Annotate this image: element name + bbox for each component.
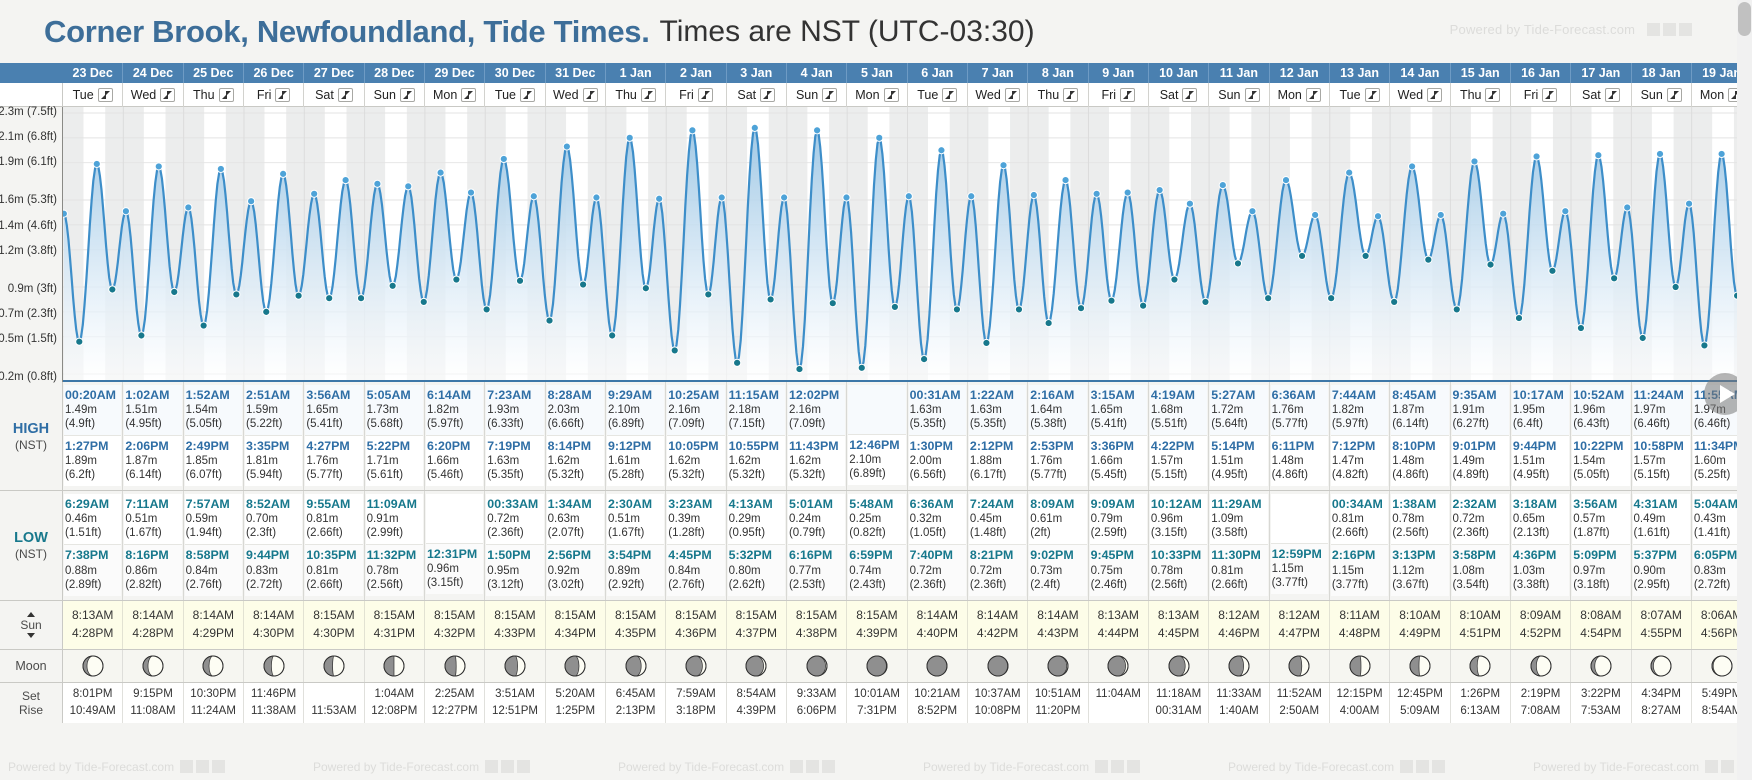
sunrise-time: 8:13AM bbox=[1089, 606, 1148, 625]
sunset-time: 4:30PM bbox=[304, 624, 363, 643]
tide-height-ft: (7.15ft) bbox=[729, 417, 784, 431]
low-tide-point bbox=[671, 347, 678, 354]
tide-time: 2:51AM bbox=[246, 388, 301, 403]
tide-height-m: 0.29m bbox=[729, 512, 784, 526]
low-tide-point bbox=[389, 282, 396, 289]
tide-cell: 2:51AM1.59m(5.22ft)3:35PM1.81m(5.94ft) bbox=[244, 382, 304, 490]
moon-set-rise-cell: 11:52AM2:50AM bbox=[1270, 683, 1330, 724]
moon-phase-cell bbox=[787, 650, 847, 682]
moon-set-rise-cell: 1:04AM12:08PM bbox=[365, 683, 425, 724]
tide-height-ft: (1.05ft) bbox=[910, 526, 965, 540]
tide-height-ft: (1.28ft) bbox=[668, 526, 723, 540]
tide-entry: 3:56AM0.57m(1.87ft) bbox=[1572, 494, 1629, 544]
moonset-time: 8:01PM bbox=[63, 686, 122, 703]
tide-height-m: 0.78m bbox=[367, 564, 422, 578]
tide-entry bbox=[426, 494, 483, 543]
tide-height-ft: (5.35ft) bbox=[487, 468, 542, 482]
y-axis-tick-label: 1.6m (5.3ft) bbox=[0, 194, 57, 206]
day-header-cell: Thu bbox=[1028, 83, 1088, 107]
sunrise-time: 8:15AM bbox=[666, 606, 725, 625]
day-label: Wed bbox=[1398, 88, 1423, 102]
tide-height-m: 0.96m bbox=[1151, 512, 1206, 526]
tide-cell: 1:22AM1.63m(5.35ft)2:12PM1.88m(6.17ft) bbox=[968, 382, 1028, 490]
tide-entry: 1:38AM0.78m(2.56ft) bbox=[1391, 494, 1448, 544]
tide-height-m: 1.95m bbox=[1513, 403, 1568, 417]
moonrise-time: 12:27PM bbox=[425, 703, 484, 720]
footer-powered-by-text: Powered by Tide-Forecast.com bbox=[313, 760, 479, 774]
expand-day-icon[interactable] bbox=[760, 88, 775, 102]
tide-height-m: 0.65m bbox=[1513, 512, 1568, 526]
footer-icons bbox=[1400, 760, 1445, 773]
date-header-cell: 10 Jan bbox=[1149, 63, 1209, 83]
tide-height-m: 1.03m bbox=[1513, 564, 1568, 578]
moonset-time: 12:15PM bbox=[1330, 686, 1389, 703]
tide-time: 9:44PM bbox=[246, 548, 301, 563]
moon-phase-icon bbox=[926, 655, 948, 677]
tide-time: 9:02PM bbox=[1030, 548, 1085, 563]
footer-tide-icon bbox=[196, 760, 209, 773]
moon-set-rise-cell: 9:15PM11:08AM bbox=[123, 683, 183, 724]
tide-height-ft: (6.89ft) bbox=[849, 467, 904, 481]
tide-time: 9:09AM bbox=[1091, 497, 1146, 512]
tide-time: 6:36AM bbox=[910, 497, 965, 512]
tide-time: 9:01PM bbox=[1453, 439, 1508, 454]
sun-cell: 8:12AM4:47PM bbox=[1270, 601, 1330, 649]
high-label-text: HIGH bbox=[13, 420, 49, 438]
tide-entry: 1:34AM0.63m(2.07ft) bbox=[547, 494, 604, 544]
low-label-text: LOW bbox=[14, 529, 48, 547]
moon-phase-icon bbox=[323, 655, 345, 677]
date-header-cell: 17 Jan bbox=[1571, 63, 1631, 83]
sun-cell: 8:13AM4:45PM bbox=[1149, 601, 1209, 649]
expand-day-icon[interactable] bbox=[338, 88, 353, 102]
moonset-time: 9:15PM bbox=[123, 686, 182, 703]
moonrise-time: 10:49AM bbox=[63, 703, 122, 720]
low-tide-point bbox=[1171, 276, 1178, 283]
moon-phase-cell bbox=[123, 650, 183, 682]
tide-entry: 7:57AM0.59m(1.94ft) bbox=[185, 494, 242, 544]
moonset-time: 2:19PM bbox=[1511, 686, 1570, 703]
sunset-time: 4:49PM bbox=[1390, 624, 1449, 643]
tide-height-m: 0.78m bbox=[1392, 512, 1447, 526]
moon-phase-icon bbox=[142, 655, 164, 677]
scrollbar-thumb[interactable] bbox=[1738, 2, 1751, 36]
tide-entry: 1:02AM1.51m(4.95ft) bbox=[124, 385, 181, 435]
tide-height-m: 1.64m bbox=[1030, 403, 1085, 417]
moon-phase-icon bbox=[82, 655, 104, 677]
moon-phase-cell bbox=[606, 650, 666, 682]
moonrise-time: 10:08PM bbox=[968, 703, 1027, 720]
tide-time: 6:11PM bbox=[1272, 439, 1327, 454]
tide-height-m: 0.32m bbox=[910, 512, 965, 526]
moon-phase-icon bbox=[1409, 655, 1431, 677]
sunset-time: 4:52PM bbox=[1511, 624, 1570, 643]
tide-entry: 10:12AM0.96m(3.15ft) bbox=[1150, 494, 1207, 544]
moon-phase-icon bbox=[202, 655, 224, 677]
tide-time: 10:22PM bbox=[1573, 439, 1628, 454]
tide-height-m: 1.08m bbox=[1453, 564, 1508, 578]
tide-height-ft: (2.56ft) bbox=[1392, 526, 1447, 540]
tide-time: 6:14AM bbox=[427, 388, 482, 403]
tide-entry: 12:46PM2.10m(6.89ft) bbox=[848, 434, 905, 485]
high-tide-point bbox=[217, 165, 224, 172]
tide-height-m: 1.81m bbox=[246, 454, 301, 468]
day-header-cell: Mon bbox=[847, 83, 907, 107]
high-tide-point bbox=[1000, 162, 1007, 169]
tide-time: 8:28AM bbox=[548, 388, 603, 403]
tide-cell: 12:02PM2.16m(7.09ft)11:43PM1.62m(5.32ft) bbox=[787, 382, 847, 490]
tide-time: 8:16PM bbox=[125, 548, 180, 563]
moonset-time: 11:52AM bbox=[1270, 686, 1329, 703]
tide-height-m: 1.76m bbox=[1030, 454, 1085, 468]
high-tide-point bbox=[656, 195, 663, 202]
low-tide-point bbox=[1140, 302, 1147, 309]
tide-entry: 5:37PM0.90m(2.95ft) bbox=[1633, 544, 1690, 595]
moon-phase-icon bbox=[987, 655, 1009, 677]
low-tide-point bbox=[580, 281, 587, 288]
low-tide-point bbox=[705, 291, 712, 298]
expand-day-icon[interactable] bbox=[275, 88, 290, 102]
high-tide-point bbox=[781, 194, 788, 201]
tide-height-ft: (0.95ft) bbox=[729, 526, 784, 540]
high-tide-point bbox=[1219, 181, 1226, 188]
tide-height-m: 0.78m bbox=[1151, 564, 1206, 578]
tide-time: 4:31AM bbox=[1634, 497, 1689, 512]
moon-phase-cell bbox=[1270, 650, 1330, 682]
date-header-cell: 6 Jan bbox=[908, 63, 968, 83]
footer-powered-by: Powered by Tide-Forecast.com bbox=[1228, 760, 1445, 774]
moonset-time: 3:51AM bbox=[485, 686, 544, 703]
tide-entry: 1:30PM2.00m(6.56ft) bbox=[909, 435, 966, 486]
sunset-time: 4:47PM bbox=[1270, 624, 1329, 643]
high-tide-point bbox=[342, 177, 349, 184]
tide-height-ft: (4.86ft) bbox=[1272, 468, 1327, 482]
tide-entry: 10:22PM1.54m(5.05ft) bbox=[1572, 435, 1629, 486]
moon-phase-icon bbox=[1047, 655, 1069, 677]
expand-day-icon[interactable] bbox=[1182, 88, 1197, 102]
expand-day-icon[interactable] bbox=[942, 88, 957, 102]
sunset-time: 4:31PM bbox=[365, 624, 424, 643]
expand-day-icon[interactable] bbox=[1485, 88, 1500, 102]
moon-phase-cell bbox=[1632, 650, 1692, 682]
footer-wind-icon bbox=[1705, 760, 1718, 773]
tide-height-ft: (5.94ft) bbox=[246, 468, 301, 482]
date-header-cell: 24 Dec bbox=[123, 63, 183, 83]
tide-height-ft: (5.28ft) bbox=[608, 468, 663, 482]
tide-height-m: 1.73m bbox=[367, 403, 422, 417]
tide-entry: 10:55PM1.62m(5.32ft) bbox=[728, 435, 785, 486]
low-tide-point bbox=[1298, 252, 1305, 259]
tide-height-m: 2.18m bbox=[729, 403, 784, 417]
tide-height-m: 0.72m bbox=[910, 564, 965, 578]
sunrise-time: 8:14AM bbox=[123, 606, 182, 625]
tide-table: 23 Dec24 Dec25 Dec26 Dec27 Dec28 Dec29 D… bbox=[0, 63, 1752, 723]
tide-cell: 7:24AM0.45m(1.48ft)8:21PM0.72m(2.36ft) bbox=[968, 491, 1028, 599]
expand-day-icon[interactable] bbox=[1365, 88, 1380, 102]
tide-entry: 2:53PM1.76m(5.77ft) bbox=[1029, 435, 1086, 486]
day-header-cell: Sun bbox=[1209, 83, 1269, 107]
date-header-cell: 13 Jan bbox=[1330, 63, 1390, 83]
expand-day-icon[interactable] bbox=[400, 88, 415, 102]
tide-entry: 5:48AM0.25m(0.82ft) bbox=[848, 494, 905, 544]
y-axis-tick-label: 1.4m (4.6ft) bbox=[0, 220, 57, 232]
tide-cell: 9:29AM2.10m(6.89ft)9:12PM1.61m(5.28ft) bbox=[606, 382, 666, 490]
tide-height-ft: (2.62ft) bbox=[729, 578, 784, 592]
day-label: Sun bbox=[796, 88, 818, 102]
tide-time: 11:24AM bbox=[1634, 388, 1689, 403]
low-tide-point bbox=[1045, 319, 1052, 326]
tide-height-m: 0.49m bbox=[1634, 512, 1689, 526]
moon-phase-cell bbox=[847, 650, 907, 682]
day-label: Sat bbox=[315, 88, 334, 102]
tide-time: 1:52AM bbox=[186, 388, 241, 403]
moon-set-rise-cell: 8:01PM10:49AM bbox=[63, 683, 123, 724]
high-tide-point bbox=[93, 160, 100, 167]
tide-height-ft: (5.32ft) bbox=[789, 468, 844, 482]
moonrise-time: 5:09AM bbox=[1390, 703, 1449, 720]
sun-cell: 8:10AM4:49PM bbox=[1390, 601, 1450, 649]
date-header-cell: 23 Dec bbox=[63, 63, 123, 83]
expand-day-icon[interactable] bbox=[1063, 88, 1078, 102]
sunrise-time: 8:09AM bbox=[1511, 606, 1570, 625]
tide-height-m: 1.48m bbox=[1392, 454, 1447, 468]
expand-day-icon[interactable] bbox=[1005, 88, 1020, 102]
date-header-cell: 12 Jan bbox=[1270, 63, 1330, 83]
page-subtitle: Times are NST (UTC-03:30) bbox=[660, 15, 1035, 49]
moonrise-time: 2:13PM bbox=[606, 703, 665, 720]
moon-set-rise-cell: 10:21AM8:52PM bbox=[908, 683, 968, 724]
tide-entry: 5:22PM1.71m(5.61ft) bbox=[366, 435, 423, 486]
tide-entry: 9:09AM0.79m(2.59ft) bbox=[1090, 494, 1147, 544]
tide-time: 10:55PM bbox=[729, 439, 784, 454]
tide-height-ft: (2.89ft) bbox=[65, 578, 120, 592]
high-tide-point bbox=[1656, 150, 1663, 157]
day-label: Wed bbox=[553, 88, 578, 102]
expand-day-icon[interactable] bbox=[1667, 88, 1682, 102]
high-tide-point bbox=[155, 163, 162, 170]
expand-day-icon[interactable] bbox=[98, 88, 113, 102]
tide-height-m: 0.75m bbox=[1091, 564, 1146, 578]
sun-cell: 8:15AM4:33PM bbox=[485, 601, 545, 649]
sun-cell: 8:15AM4:38PM bbox=[787, 601, 847, 649]
expand-day-icon[interactable] bbox=[461, 88, 476, 102]
high-tide-point bbox=[905, 193, 912, 200]
expand-day-icon[interactable] bbox=[520, 88, 535, 102]
sunset-time: 4:32PM bbox=[425, 624, 484, 643]
tide-cell: 3:56AM1.65m(5.41ft)4:27PM1.76m(5.77ft) bbox=[304, 382, 364, 490]
y-axis-tick-label: 1.9m (6.1ft) bbox=[0, 156, 57, 168]
tide-entry: 12:59PM1.15m(3.77ft) bbox=[1271, 543, 1328, 594]
date-header-cell: 31 Dec bbox=[546, 63, 606, 83]
sunrise-time: 8:15AM bbox=[727, 606, 786, 625]
sunset-time: 4:42PM bbox=[968, 624, 1027, 643]
day-header-cell: Fri bbox=[244, 83, 304, 107]
date-header-cell: 30 Dec bbox=[485, 63, 545, 83]
moonrise-time: 11:08AM bbox=[123, 703, 182, 720]
tide-entry: 8:21PM0.72m(2.36ft) bbox=[969, 544, 1026, 595]
low-tide-point bbox=[1549, 267, 1556, 274]
moonrise-time: 8:52PM bbox=[908, 703, 967, 720]
high-tide-point bbox=[1156, 186, 1163, 193]
high-tide-point bbox=[63, 210, 67, 217]
tide-cell: 7:57AM0.59m(1.94ft)8:58PM0.84m(2.76ft) bbox=[184, 491, 244, 599]
tide-cell: 1:02AM1.51m(4.95ft)2:06PM1.87m(6.14ft) bbox=[123, 382, 183, 490]
day-label: Thu bbox=[1460, 88, 1482, 102]
high-tide-point bbox=[1186, 200, 1193, 207]
expand-day-icon[interactable] bbox=[583, 88, 598, 102]
tide-entry: 10:33PM0.78m(2.56ft) bbox=[1150, 544, 1207, 595]
high-tide-point bbox=[280, 170, 287, 177]
tide-entry: 5:32PM0.80m(2.62ft) bbox=[728, 544, 785, 595]
tide-time: 7:11AM bbox=[125, 497, 180, 512]
moon-phase-cell bbox=[1571, 650, 1631, 682]
expand-day-icon[interactable] bbox=[1427, 88, 1442, 102]
tide-height-ft: (3.54ft) bbox=[1453, 578, 1508, 592]
moonset-time bbox=[304, 686, 363, 703]
sun-cell: 8:10AM4:51PM bbox=[1451, 601, 1511, 649]
footer-powered-by-text: Powered by Tide-Forecast.com bbox=[8, 760, 174, 774]
tide-height-ft: (1.61ft) bbox=[1634, 526, 1689, 540]
tide-height-m: 0.81m bbox=[306, 512, 361, 526]
tide-cell: 6:29AM0.46m(1.51ft)7:38PM0.88m(2.89ft) bbox=[63, 491, 123, 599]
date-header-cell: 26 Dec bbox=[244, 63, 304, 83]
low-tide-point bbox=[1577, 324, 1584, 331]
expand-day-icon[interactable] bbox=[1120, 88, 1135, 102]
date-header-cell: 25 Dec bbox=[184, 63, 244, 83]
expand-day-icon[interactable] bbox=[219, 88, 234, 102]
footer-powered-by-text: Powered by Tide-Forecast.com bbox=[1533, 760, 1699, 774]
tide-entry: 00:31AM1.63m(5.35ft) bbox=[909, 385, 966, 435]
tide-entry: 12:02PM2.16m(7.09ft) bbox=[788, 385, 845, 435]
expand-day-icon[interactable] bbox=[1245, 88, 1260, 102]
tide-height-ft: (2.36ft) bbox=[970, 578, 1025, 592]
low-tide-point bbox=[1265, 295, 1272, 302]
tide-height-ft: (6.56ft) bbox=[910, 468, 965, 482]
vertical-scrollbar[interactable] bbox=[1737, 0, 1752, 780]
tide-cell: 9:55AM0.81m(2.66ft)10:35PM0.81m(2.66ft) bbox=[304, 491, 364, 599]
moon-set-rise-cell: 10:01AM7:31PM bbox=[847, 683, 907, 724]
tide-entry: 11:43PM1.62m(5.32ft) bbox=[788, 435, 845, 486]
day-header-cell: Sat bbox=[304, 83, 364, 107]
tide-height-ft: (6.4ft) bbox=[1513, 417, 1568, 431]
moon-set-rise-cell: 11:53AM bbox=[304, 683, 364, 724]
sunrise-time: 8:07AM bbox=[1632, 606, 1691, 625]
sunset-time: 4:44PM bbox=[1089, 624, 1148, 643]
tide-height-m: 0.51m bbox=[608, 512, 663, 526]
tide-height-ft: (5.64ft) bbox=[1211, 417, 1266, 431]
tide-height-ft: (7.09ft) bbox=[789, 417, 844, 431]
tide-height-ft: (5.15ft) bbox=[1151, 468, 1206, 482]
tide-entry: 5:27AM1.72m(5.64ft) bbox=[1210, 385, 1267, 435]
moonset-time: 11:18AM bbox=[1149, 686, 1208, 703]
expand-day-icon[interactable] bbox=[822, 88, 837, 102]
tide-entry: 10:52AM1.96m(6.43ft) bbox=[1572, 385, 1629, 435]
tide-time: 12:02PM bbox=[789, 388, 844, 403]
day-label: Fri bbox=[257, 88, 272, 102]
high-tide-point bbox=[437, 169, 444, 176]
day-label: Thu bbox=[1038, 88, 1060, 102]
tide-height-m: 0.89m bbox=[608, 564, 663, 578]
tide-cell: 10:52AM1.96m(6.43ft)10:22PM1.54m(5.05ft) bbox=[1571, 382, 1631, 490]
tide-height-ft: (5.77ft) bbox=[1272, 417, 1327, 431]
tide-entry: 11:24AM1.97m(6.46ft) bbox=[1633, 385, 1690, 435]
tide-height-ft: (4.95ft) bbox=[1211, 468, 1266, 482]
tide-time: 8:09AM bbox=[1030, 497, 1085, 512]
moonrise-time bbox=[1089, 703, 1148, 720]
day-label: Mon bbox=[1700, 88, 1724, 102]
tide-height-ft: (1.51ft) bbox=[65, 526, 120, 540]
expand-day-icon[interactable] bbox=[1605, 88, 1620, 102]
moon-phase-cell bbox=[1209, 650, 1269, 682]
tide-entry: 10:25AM2.16m(7.09ft) bbox=[667, 385, 724, 435]
tide-height-m: 2.10m bbox=[608, 403, 663, 417]
tide-entry: 9:01PM1.49m(4.89ft) bbox=[1452, 435, 1509, 486]
powered-by-icons bbox=[1647, 23, 1692, 36]
tide-height-m: 0.72m bbox=[487, 512, 542, 526]
date-header-cell: 11 Jan bbox=[1209, 63, 1269, 83]
tide-height-ft: (5.46ft) bbox=[427, 468, 482, 482]
high-tide-point bbox=[751, 124, 758, 131]
sun-cell: 8:12AM4:46PM bbox=[1209, 601, 1269, 649]
tide-height-m: 1.49m bbox=[1453, 454, 1508, 468]
day-header-cell: Mon bbox=[1270, 83, 1330, 107]
expand-day-icon[interactable] bbox=[1306, 88, 1321, 102]
tide-cell: 3:18AM0.65m(2.13ft)4:36PM1.03m(3.38ft) bbox=[1511, 491, 1571, 599]
tide-height-m: 0.84m bbox=[668, 564, 723, 578]
day-header-cell: Wed bbox=[1390, 83, 1450, 107]
moonrise-time: 8:27AM bbox=[1632, 703, 1691, 720]
moon-phase-cell bbox=[727, 650, 787, 682]
tide-height-ft: (5.97ft) bbox=[427, 417, 482, 431]
moon-row: Moon bbox=[0, 650, 1752, 683]
day-header-cell: Tue bbox=[63, 83, 123, 107]
high-tide-point bbox=[1124, 189, 1131, 196]
tide-entry: 6:29AM0.46m(1.51ft) bbox=[64, 494, 121, 544]
tide-height-m: 0.84m bbox=[186, 564, 241, 578]
expand-day-icon[interactable] bbox=[698, 88, 713, 102]
expand-day-icon[interactable] bbox=[160, 88, 175, 102]
chart-plot-area[interactable] bbox=[63, 107, 1752, 382]
moon-phase-cell bbox=[666, 650, 726, 682]
day-header-cell: Sun bbox=[787, 83, 847, 107]
sunset-time: 4:34PM bbox=[546, 624, 605, 643]
tide-height-m: 1.66m bbox=[1091, 454, 1146, 468]
date-header-spacer bbox=[0, 63, 63, 83]
tide-height-m: 0.81m bbox=[1332, 512, 1387, 526]
tide-time: 9:44PM bbox=[1513, 439, 1568, 454]
moonset-time: 5:20AM bbox=[546, 686, 605, 703]
low-label-tz: (NST) bbox=[15, 547, 47, 562]
sun-cell: 8:15AM4:30PM bbox=[304, 601, 364, 649]
expand-day-icon[interactable] bbox=[1542, 88, 1557, 102]
expand-day-icon[interactable] bbox=[641, 88, 656, 102]
day-header-cell: Thu bbox=[1451, 83, 1511, 107]
tide-height-ft: (6.89ft) bbox=[608, 417, 663, 431]
date-header-cell: 9 Jan bbox=[1089, 63, 1149, 83]
page-header: Corner Brook, Newfoundland, Tide Times. … bbox=[0, 0, 1752, 63]
tide-height-ft: (4.82ft) bbox=[1332, 468, 1387, 482]
tide-cell: 4:31AM0.49m(1.61ft)5:37PM0.90m(2.95ft) bbox=[1632, 491, 1692, 599]
day-label: Thu bbox=[615, 88, 637, 102]
tide-cell: 12:46PM2.10m(6.89ft) bbox=[847, 382, 907, 490]
expand-day-icon[interactable] bbox=[884, 88, 899, 102]
tide-height-ft: (0.79ft) bbox=[789, 526, 844, 540]
moon-phase-cell bbox=[304, 650, 364, 682]
tide-height-ft: (4.89ft) bbox=[1453, 468, 1508, 482]
moon-set-rise-cell: 9:33AM6:06PM bbox=[787, 683, 847, 724]
footer-tide-icon bbox=[1111, 760, 1124, 773]
sunset-time: 4:29PM bbox=[184, 624, 243, 643]
